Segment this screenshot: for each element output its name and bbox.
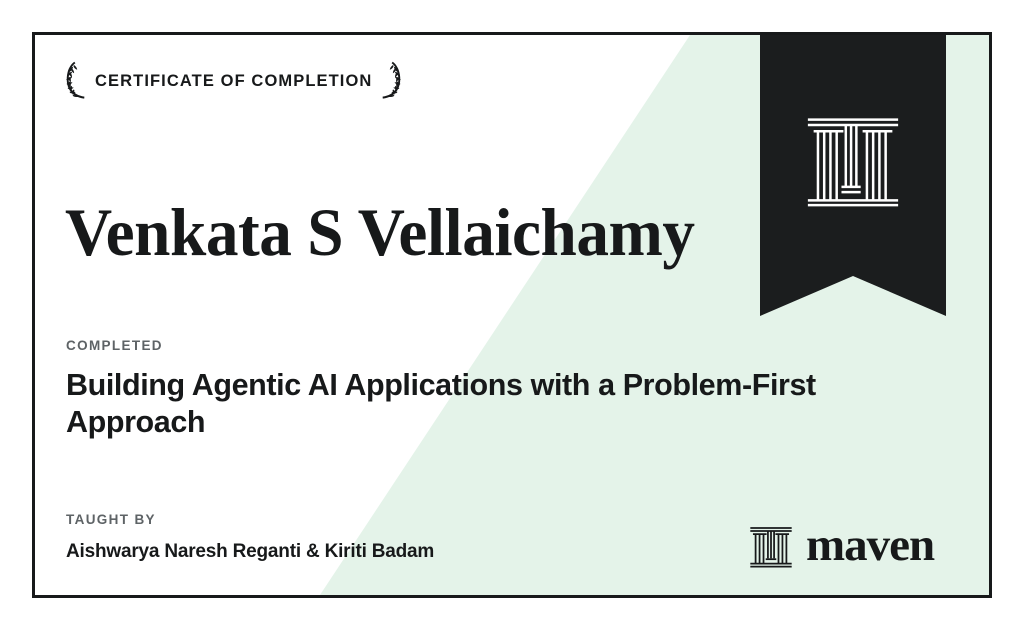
certificate-card: CERTIFICATE OF COMPLETION Venka — [32, 32, 992, 598]
instructor-names: Aishwarya Naresh Reganti & Kiriti Badam — [66, 541, 666, 564]
ribbon-badge — [760, 32, 946, 316]
certificate-eyebrow-label: CERTIFICATE OF COMPLETION — [95, 73, 372, 90]
laurel-branch-left-icon — [65, 61, 87, 101]
taught-by-label: TAUGHT BY — [66, 513, 666, 527]
laurel-branch-right-icon — [380, 61, 402, 101]
maven-wordmark: maven — [806, 522, 934, 569]
recipient-name: Venkata S Vellaichamy — [65, 197, 695, 268]
taught-by-section: TAUGHT BY Aishwarya Naresh Reganti & Kir… — [66, 513, 666, 563]
completed-label: COMPLETED — [66, 339, 946, 353]
maven-pillars-icon — [749, 524, 793, 568]
maven-pillars-icon — [805, 112, 901, 208]
maven-brand-logo: maven — [749, 522, 934, 569]
completed-section: COMPLETED Building Agentic AI Applicatio… — [66, 339, 946, 441]
certificate-header: CERTIFICATE OF COMPLETION — [65, 61, 402, 101]
course-title: Building Agentic AI Applications with a … — [66, 367, 926, 441]
